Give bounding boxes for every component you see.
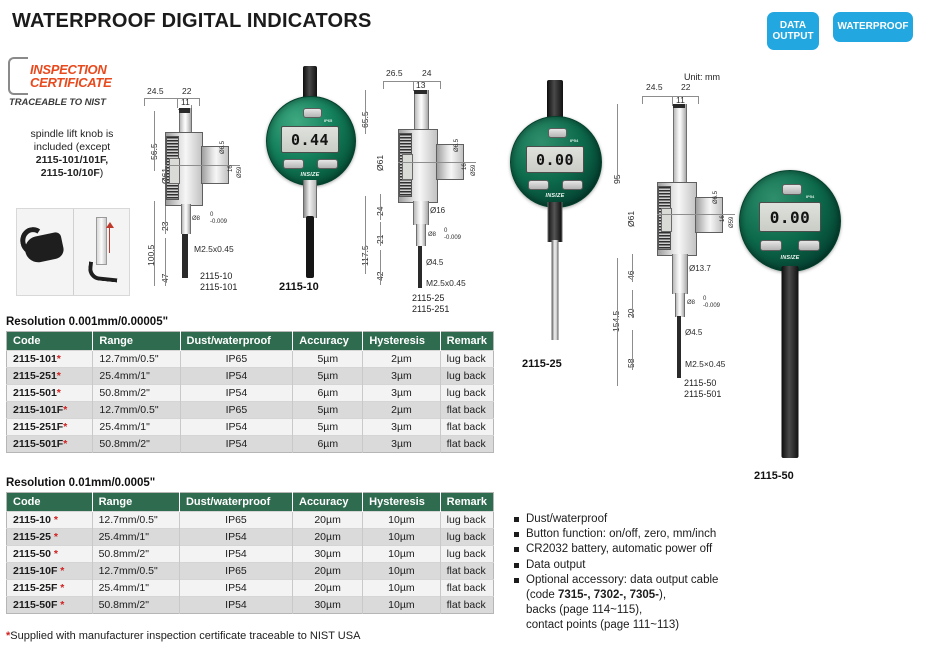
knob-note-line1: spindle lift knob is [31,128,114,140]
table-coarse-header-row: Code Range Dust/waterproof Accuracy Hyst… [7,493,494,512]
drawing-2115-10-lcd [169,158,180,184]
table-fine-th-hysteresis: Hysteresis [363,332,440,351]
dim-2115-50-top-right: 22 [681,82,690,92]
table-coarse-th-protection: Dust/waterproof [179,493,292,512]
table-row: 2115-101* 12.7mm/0.5" IP65 5µm 2µm lug b… [7,351,494,368]
cell-code: 2115-501* [7,385,93,402]
feature-optional-line1: Optional accessory: data output cable [526,574,718,586]
dim-2115-10-shaft-tol-top: 0 [210,212,213,218]
product-2115-10-ip-label: IP65 [324,118,332,123]
cell-remark: lug back [440,512,493,529]
cell-hysteresis: 10µm [363,512,440,529]
cell-code-star: * [54,531,58,543]
cell-hysteresis: 2µm [363,402,440,419]
knob-photo-left [17,209,73,295]
product-2115-50-zero-button[interactable] [782,184,802,195]
dim-2115-25-shaft-dia: Ø8 [428,232,436,238]
drawing-2115-25-rod-cap [414,90,427,94]
product-2115-50: IP54 0.00 INSIZE 2115-50 [734,170,846,490]
dim-2115-50-hole-dia: Ø6.5 [713,191,719,204]
table-coarse-th-accuracy: Accuracy [293,493,363,512]
drawing-2115-50-sleeve [672,254,688,294]
product-2115-50-lower-stem [782,266,799,458]
drawing-2115-25-spindle [416,224,426,246]
drawing-2115-25-contact-point [418,246,422,288]
cell-accuracy: 30µm [293,597,363,614]
table-fine-title: Resolution 0.001mm/0.00005" [6,316,168,328]
dim-2115-10-top-left: 24.5 [147,86,164,96]
cell-hysteresis: 3µm [363,368,440,385]
product-2115-50-caption: 2115-50 [754,470,794,482]
feature-optional-codes: 7315-, 7302-, 7305- [558,589,659,601]
dim-2115-50-sleeve-dia: Ø13.7 [689,264,711,273]
cell-code: 2115-10F * [7,563,93,580]
product-2115-10-zero-button[interactable] [303,108,322,118]
drawing-2115-50: 24.5 22 11 95 Ø61 46 20 58 154.5 Ø6.5 16… [606,82,741,412]
cell-range: 12.7mm/0.5" [93,402,180,419]
dim-2115-50-dia-body: Ø61 [626,211,636,227]
cell-range: 25.4mm/1" [92,529,179,546]
cell-code: 2115-251* [7,368,93,385]
table-coarse-title: Resolution 0.01mm/0.0005" [6,477,155,489]
knob-note-bold1: 2115-101/101F, [36,154,108,166]
cell-code-text: 2115-101 [13,353,57,365]
cell-code-text: 2115-251 [13,370,57,382]
spindle-knob-note: spindle lift knob is included (except 21… [6,128,138,180]
drawing-2115-10-caption-line2: 2115-101 [200,282,237,292]
drawing-2115-50-caption-line1: 2115-50 [684,378,716,388]
cell-code: 2115-10 * [7,512,93,529]
dim-2115-25-thread: M2.5x0.45 [426,278,466,288]
table-row: 2115-251* 25.4mm/1" IP54 5µm 3µm lug bac… [7,368,494,385]
cell-code-star: * [57,353,61,365]
cell-protection: IP65 [180,402,293,419]
cell-remark: flat back [440,597,493,614]
table-coarse-th-code: Code [7,493,93,512]
drawing-2115-10-contact-point [182,234,188,278]
feature-item: Button function: on/off, zero, mm/inch [512,527,912,542]
cell-code-text: 2115-25F [13,582,57,594]
cell-code-text: 2115-50 [13,548,51,560]
product-2115-25-unit-button[interactable] [562,180,583,190]
product-2115-10-caption: 2115-10 [279,281,319,293]
cell-hysteresis: 10µm [363,529,440,546]
cell-hysteresis: 10µm [363,597,440,614]
dim-2115-10-hole-dia: Ø6.5 [220,141,226,154]
feature-optional-backs: backs (page 114~115), [526,604,642,616]
product-2115-50-unit-button[interactable] [798,240,820,251]
dim-2115-10-back-w: 16 [228,165,234,172]
dim-2115-25-tip-dia: Ø4.5 [426,258,443,267]
cell-accuracy: 5µm [293,368,363,385]
drawing-2115-50-caption-line2: 2115-501 [684,389,721,399]
cell-code-star: * [63,421,67,433]
feature-optional-suffix: ), [659,589,666,601]
drawing-2115-10-rod-cap [179,108,190,113]
dim-2115-10-back-dia: Ø59 [237,167,243,178]
cell-remark: lug back [440,351,493,368]
cell-protection: IP54 [179,580,292,597]
product-2115-25-zero-button[interactable] [548,128,567,138]
cell-remark: flat back [440,419,493,436]
certificate-subtitle: TRACEABLE TO NIST [9,97,148,108]
cell-remark: lug back [440,385,493,402]
cell-remark: flat back [440,436,493,453]
cell-accuracy: 20µm [293,563,363,580]
table-fine-body: 2115-101* 12.7mm/0.5" IP65 5µm 2µm lug b… [7,351,494,453]
dim-2115-25-dia-body: Ø61 [375,155,385,171]
dim-2115-50-tip-dia: Ø4.5 [685,328,702,337]
table-fine-header-row: Code Range Dust/waterproof Accuracy Hyst… [7,332,494,351]
knob-note-closing: ) [100,167,104,179]
cell-hysteresis: 10µm [363,546,440,563]
cell-code-star: * [54,514,58,526]
product-2115-25-ip-label: IP54 [570,138,578,143]
cell-range: 25.4mm/1" [92,580,179,597]
cell-code: 2115-50F * [7,597,93,614]
cell-code-text: 2115-25 [13,531,51,543]
unit-label: Unit: mm [684,72,720,82]
drawing-2115-50-rod-cap [673,104,685,108]
cell-range: 12.7mm/0.5" [93,351,180,368]
product-2115-25-contact-shaft [552,240,559,340]
cell-accuracy: 6µm [293,385,363,402]
cell-accuracy: 5µm [293,419,363,436]
cell-hysteresis: 10µm [363,563,440,580]
dim-2115-50-back-w: 16 [720,215,726,222]
cell-code-text: 2115-50F [13,599,57,611]
table-row: 2115-10F * 12.7mm/0.5" IP65 20µm 10µm fl… [7,563,494,580]
dim-2115-25-back-w: 16 [462,163,468,170]
cell-protection: IP54 [180,419,293,436]
table-fine-th-code: Code [7,332,93,351]
drawing-2115-25: 26.5 24 13 65.5 Ø61 24 21 42 117.5 Ø6.5 … [356,66,486,306]
page-title: WATERPROOF DIGITAL INDICATORS [12,10,372,33]
dim-2115-50-left-b: 20 [626,309,636,318]
certificate-bracket-icon [8,57,28,95]
product-2115-10-display: 0.44 [281,126,339,153]
cell-protection: IP65 [180,351,293,368]
feature-item-optional: Optional accessory: data output cable (c… [512,573,912,634]
drawing-2115-25-lcd [402,154,413,180]
table-row: 2115-101F* 12.7mm/0.5" IP65 5µm 2µm flat… [7,402,494,419]
product-2115-10-onoff-button[interactable] [283,159,304,169]
cell-remark: flat back [440,580,493,597]
badge-group: DATA OUTPUT WATERPROOF [767,12,913,50]
cell-code-star: * [60,599,64,611]
drawing-2115-25-sleeve [413,201,429,225]
cell-code-star: * [60,582,64,594]
cell-remark: lug back [440,368,493,385]
cell-code-star: * [57,370,61,382]
cell-range: 12.7mm/0.5" [92,563,179,580]
cell-remark: flat back [440,563,493,580]
dim-2115-25-shaft-tol-top: 0 [444,228,447,234]
cell-hysteresis: 10µm [363,580,440,597]
drawing-2115-50-caption: 2115-50 2115-501 [684,378,721,400]
feature-optional-prefix: (code [526,589,558,601]
cell-hysteresis: 3µm [363,419,440,436]
dim-2115-10-thread: M2.5x0.45 [194,244,234,254]
cell-range: 25.4mm/1" [93,419,180,436]
dim-2115-25-sleeve-dia: Ø16 [430,206,445,215]
table-fine-th-range: Range [93,332,180,351]
dim-2115-10-top-right: 22 [182,86,191,96]
dim-2115-50-shaft-dia: Ø8 [687,300,695,306]
product-2115-10-spindle [303,180,317,218]
cell-hysteresis: 3µm [363,436,440,453]
cell-range: 50.8mm/2" [92,546,179,563]
cell-hysteresis: 3µm [363,385,440,402]
dim-2115-50-left-a: 46 [626,271,636,280]
cell-accuracy: 5µm [293,351,363,368]
cell-code: 2115-25F * [7,580,93,597]
table-row: 2115-10 * 12.7mm/0.5" IP65 20µm 10µm lug… [7,512,494,529]
cell-code-text: 2115-101F [13,404,63,416]
table-row: 2115-501* 50.8mm/2" IP54 6µm 3µm lug bac… [7,385,494,402]
product-2115-50-onoff-button[interactable] [760,240,782,251]
dim-2115-25-back-dia: Ø59 [471,165,477,176]
badge-data-output: DATA OUTPUT [767,12,819,50]
cell-protection: IP54 [180,436,293,453]
product-2115-25: IP54 0.00 INSIZE 2115-25 [504,80,606,380]
table-coarse: Code Range Dust/waterproof Accuracy Hyst… [6,492,494,614]
drawing-2115-25-caption-line1: 2115-25 [412,293,444,303]
product-2115-25-brand: INSIZE [546,193,565,199]
product-2115-50-ip-label: IP54 [806,194,814,199]
cell-accuracy: 20µm [293,512,363,529]
feature-optional-contacts: contact points (page 111~113) [526,619,679,631]
cell-code-text: 2115-501F [13,438,63,450]
cell-accuracy: 20µm [293,529,363,546]
badge-data-output-line1: DATA [772,20,813,32]
table-coarse-th-range: Range [92,493,179,512]
cell-protection: IP54 [180,385,293,402]
cell-code-text: 2115-501 [13,387,57,399]
cell-accuracy: 5µm [293,402,363,419]
drawing-2115-10-spindle [181,204,191,234]
cell-accuracy: 6µm [293,436,363,453]
cell-protection: IP65 [179,512,292,529]
cell-protection: IP54 [179,529,292,546]
table-row: 2115-50 * 50.8mm/2" IP54 30µm 10µm lug b… [7,546,494,563]
cell-accuracy: 30µm [293,546,363,563]
cell-range: 50.8mm/2" [93,436,180,453]
cell-code-star: * [63,438,67,450]
spindle-knob-photo [16,208,130,296]
cell-protection: IP54 [179,546,292,563]
cell-range: 50.8mm/2" [93,385,180,402]
cell-range: 12.7mm/0.5" [92,512,179,529]
footnote: *Supplied with manufacturer inspection c… [6,630,360,642]
dim-2115-25-shaft-tol-bot: -0.009 [444,235,461,241]
cell-code: 2115-50 * [7,546,93,563]
dim-2115-50-left-c: 58 [626,359,636,368]
cell-remark: flat back [440,402,493,419]
cell-hysteresis: 2µm [363,351,440,368]
knob-hook-icon [87,261,119,282]
cell-code-star: * [57,387,61,399]
cell-protection: IP54 [179,597,292,614]
cell-range: 25.4mm/1" [93,368,180,385]
cell-remark: lug back [440,546,493,563]
cell-range: 50.8mm/2" [92,597,179,614]
product-2115-10-brand: INSIZE [301,172,320,178]
cell-remark: lug back [440,529,493,546]
product-2115-25-onoff-button[interactable] [528,180,549,190]
table-row: 2115-25 * 25.4mm/1" IP54 20µm 10µm lug b… [7,529,494,546]
drawing-2115-10-caption: 2115-10 2115-101 [200,271,237,293]
cell-code-star: * [60,565,64,577]
cell-code: 2115-251F* [7,419,93,436]
product-2115-10-unit-button[interactable] [317,159,338,169]
drawing-2115-25-caption: 2115-25 2115-251 [412,293,449,315]
table-row: 2115-251F* 25.4mm/1" IP54 5µm 3µm flat b… [7,419,494,436]
knob-shape-icon [23,231,66,264]
footnote-text: Supplied with manufacturer inspection ce… [10,630,360,642]
table-fine: Code Range Dust/waterproof Accuracy Hyst… [6,331,494,453]
dim-2115-50-left-total: 154.5 [611,311,621,332]
cell-code-star: * [54,548,58,560]
drawing-2115-50-lcd [661,208,672,232]
table-fine-th-accuracy: Accuracy [293,332,363,351]
product-2115-25-spindle [548,202,563,242]
cell-code-text: 2115-10F [13,565,57,577]
drawing-2115-10: 24.5 22 11 56.5 Ø61 23 100.5 47 Ø6.5 16 … [140,86,260,301]
dim-2115-50-thread: M2.5×0.45 [685,359,725,369]
table-coarse-body: 2115-10 * 12.7mm/0.5" IP65 20µm 10µm lug… [7,512,494,614]
table-coarse-th-remark: Remark [440,493,493,512]
dim-2115-10-shaft-tol-bot: -0.009 [210,219,227,225]
knob-note-line2: included (except [34,141,110,153]
knob-up-arrow-icon [109,227,111,253]
cell-protection: IP65 [179,563,292,580]
cell-code: 2115-101F* [7,402,93,419]
dim-2115-50-shaft-tol-top: 0 [703,296,706,302]
features-list: Dust/waterproof Button function: on/off,… [512,512,912,634]
cell-protection: IP54 [180,368,293,385]
feature-item: Dust/waterproof [512,512,912,527]
cell-code: 2115-25 * [7,529,93,546]
product-2115-25-caption: 2115-25 [522,358,562,370]
product-2115-50-brand: INSIZE [781,255,800,261]
badge-data-output-line2: OUTPUT [772,31,813,43]
feature-item: Data output [512,558,912,573]
product-2115-10: IP65 0.44 INSIZE 2115-10 [262,66,358,296]
cell-code-text: 2115-10 [13,514,51,526]
cell-code: 2115-501F* [7,436,93,453]
table-coarse-th-hysteresis: Hysteresis [363,493,440,512]
cell-code-text: 2115-251F [13,421,63,433]
dim-2115-25-hole-dia: Ø6.5 [454,139,460,152]
product-2115-25-display: 0.00 [526,146,584,173]
dim-2115-50-top-left: 24.5 [646,82,663,92]
product-2115-50-display: 0.00 [759,202,821,232]
table-row: 2115-50F * 50.8mm/2" IP54 30µm 10µm flat… [7,597,494,614]
dim-2115-25-top-right: 24 [422,68,431,78]
table-fine-th-remark: Remark [440,332,493,351]
cell-accuracy: 20µm [293,580,363,597]
product-2115-10-contact-point [306,216,314,278]
knob-photo-right [74,209,130,295]
cell-code-star: * [63,404,67,416]
drawing-2115-50-contact-point [677,316,681,378]
feature-item: CR2032 battery, automatic power off [512,542,912,557]
catalog-page: WATERPROOF DIGITAL INDICATORS DATA OUTPU… [0,0,927,663]
inspection-certificate-logo: INSPECTION CERTIFICATE TRACEABLE TO NIST [8,57,148,108]
dim-2115-50-shaft-tol-bot: -0.009 [703,303,720,309]
table-row: 2115-25F * 25.4mm/1" IP54 20µm 10µm flat… [7,580,494,597]
drawing-2115-25-caption-line2: 2115-251 [412,304,449,314]
knob-note-bold2: 2115-10/10F [41,167,100,179]
table-row: 2115-501F* 50.8mm/2" IP54 6µm 3µm flat b… [7,436,494,453]
dim-2115-10-shaft-dia: Ø8 [192,216,200,222]
drawing-2115-50-spindle [675,293,685,317]
cell-code: 2115-101* [7,351,93,368]
drawing-2115-10-caption-line1: 2115-10 [200,271,232,281]
badge-waterproof: WATERPROOF [833,12,913,42]
dim-2115-25-top-left: 26.5 [386,68,403,78]
table-fine-th-protection: Dust/waterproof [180,332,293,351]
drawing-2115-50-top-rod [673,104,687,186]
certificate-line2: CERTIFICATE [30,76,111,89]
